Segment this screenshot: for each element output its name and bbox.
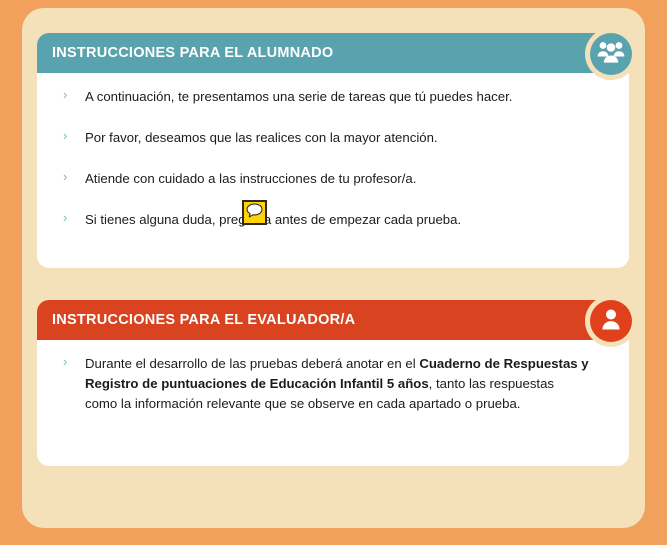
list-item: › Si tienes alguna duda, pregunta antes … — [59, 210, 607, 229]
group-of-people-icon — [597, 40, 625, 69]
badge-inner-alumnado — [590, 33, 632, 75]
card-body-alumnado: › A continuación, te presentamos una ser… — [37, 73, 629, 239]
speech-bubble-marker[interactable] — [242, 200, 267, 225]
list-item: › Durante el desarrollo de las pruebas d… — [59, 354, 607, 414]
badge-evaluador — [585, 295, 637, 347]
speech-bubble-icon — [246, 203, 263, 223]
list-item: › Por favor, deseamos que las realices c… — [59, 128, 607, 147]
badge-inner-evaluador — [590, 300, 632, 342]
list-item-label: Si tienes alguna duda, pregunta antes de… — [85, 212, 461, 227]
card-title-alumnado: INSTRUCCIONES PARA EL ALUMNADO — [37, 45, 333, 61]
list-item-text-before: Durante el desarrollo de las pruebas deb… — [85, 356, 419, 371]
page-root: INSTRUCCIONES PARA EL ALUMNADO › A conti… — [0, 0, 667, 545]
badge-alumnado — [585, 28, 637, 80]
chevron-right-icon: › — [63, 129, 73, 143]
list-item-label: Por favor, deseamos que las realices con… — [85, 130, 438, 145]
card-header-evaluador: INSTRUCCIONES PARA EL EVALUADOR/A — [37, 300, 629, 340]
card-instrucciones-evaluador: INSTRUCCIONES PARA EL EVALUADOR/A › Dura… — [37, 300, 629, 466]
card-title-evaluador: INSTRUCCIONES PARA EL EVALUADOR/A — [37, 312, 355, 328]
bullet-list-alumnado: › A continuación, te presentamos una ser… — [59, 87, 607, 229]
card-body-evaluador: › Durante el desarrollo de las pruebas d… — [37, 340, 629, 424]
list-item-label: Durante el desarrollo de las pruebas deb… — [85, 356, 589, 411]
chevron-right-icon: › — [63, 211, 73, 225]
bullet-list-evaluador: › Durante el desarrollo de las pruebas d… — [59, 354, 607, 414]
list-item-label: Atiende con cuidado a las instrucciones … — [85, 171, 416, 186]
chevron-right-icon: › — [63, 355, 73, 369]
list-item: › A continuación, te presentamos una ser… — [59, 87, 607, 106]
card-header-alumnado: INSTRUCCIONES PARA EL ALUMNADO — [37, 33, 629, 73]
list-item: › Atiende con cuidado a las instruccione… — [59, 169, 607, 188]
chevron-right-icon: › — [63, 170, 73, 184]
card-instrucciones-alumnado: INSTRUCCIONES PARA EL ALUMNADO › A conti… — [37, 33, 629, 268]
single-person-icon — [599, 307, 623, 336]
chevron-right-icon: › — [63, 88, 73, 102]
list-item-label: A continuación, te presentamos una serie… — [85, 89, 512, 104]
